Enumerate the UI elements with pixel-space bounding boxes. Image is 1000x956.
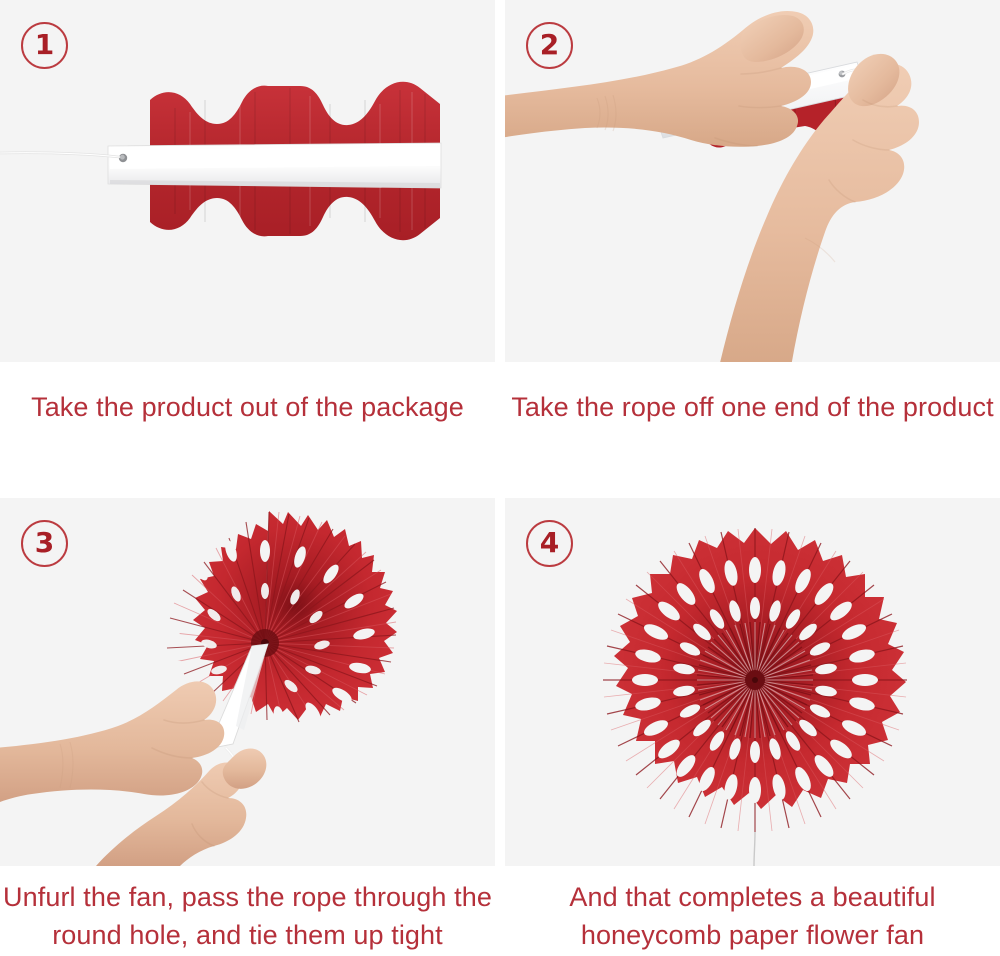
cardboard-strip	[108, 143, 441, 188]
step-badge-4: 4	[526, 520, 573, 567]
step-1-caption: Take the product out of the package	[0, 362, 495, 498]
step-badge-2: 2	[526, 22, 573, 69]
step-2-illustration	[505, 0, 1000, 362]
honeycomb-fan-complete	[603, 528, 907, 832]
step-badge-1-number: 1	[35, 31, 54, 59]
elastic-rope	[0, 153, 119, 157]
step-badge-3-number: 3	[35, 529, 54, 557]
steps-grid: 1	[0, 0, 1000, 956]
step-badge-4-number: 4	[540, 529, 559, 557]
caption-gap-bottom	[495, 866, 505, 956]
step-4-stage	[505, 498, 1000, 866]
step-badge-1: 1	[21, 22, 68, 69]
step-3-caption: Unfurl the fan, pass the rope through th…	[0, 866, 495, 956]
step-4-caption: And that completes a beautiful honeycomb…	[505, 866, 1000, 956]
left-hand-pinch	[0, 681, 224, 804]
step-1-panel: 1	[0, 0, 495, 362]
step-3-illustration	[0, 498, 495, 866]
step-3-panel: 3	[0, 498, 495, 866]
step-badge-2-number: 2	[540, 31, 559, 59]
step-4-panel: 4	[505, 498, 1000, 866]
hanging-thread	[754, 832, 755, 866]
caption-gap-top	[495, 362, 505, 498]
step-3-stage	[0, 498, 495, 866]
instruction-sheet: 1	[0, 0, 1000, 956]
step-2-caption: Take the rope off one end of the product	[505, 362, 1000, 498]
step-1-stage	[0, 0, 495, 362]
step-2-stage	[505, 0, 1000, 362]
column-gap-top	[495, 0, 505, 362]
step-4-illustration	[505, 498, 1000, 866]
column-gap-bottom	[495, 498, 505, 866]
step-badge-3: 3	[21, 520, 68, 567]
step-2-panel: 2	[505, 0, 1000, 362]
step-1-illustration	[0, 0, 495, 362]
